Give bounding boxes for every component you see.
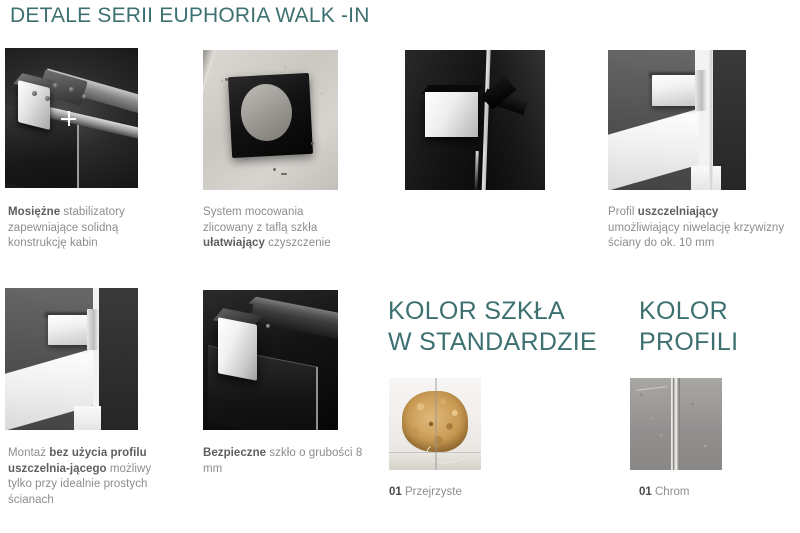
feature-caption-4-strong: uszczelniający (638, 206, 719, 218)
feature-caption-6: Bezpieczne szkło o grubości 8 mm (203, 446, 363, 477)
chrome-profile-swatch-name: Chrom (655, 486, 690, 498)
chrome-profile-swatch-label: 01 Chrom (639, 486, 690, 498)
safety-glass-cap-photo (203, 290, 338, 430)
feature-caption-5-lead: Montaż (8, 447, 49, 459)
feature-caption-1: Mosiężne stabilizatory zapewniające soli… (8, 205, 158, 252)
feature-caption-1-strong: Mosiężne (8, 206, 60, 218)
page-title: DETALE SERII EUPHORIA WALK -IN (10, 4, 370, 28)
feature-caption-2-strong: ułatwiający (203, 237, 265, 249)
transparent-glass-swatch-label: 01 Przejrzyste (389, 486, 462, 498)
brass-stabilizer-bracket-photo (5, 48, 138, 188)
feature-caption-4-lead: Profil (608, 206, 638, 218)
glass-color-heading-line1: KOLOR SZKŁA (388, 296, 613, 327)
flush-glass-mount-photo (203, 50, 338, 190)
sealing-profile-photo (608, 50, 746, 190)
chrome-profile-swatch[interactable] (630, 378, 722, 470)
transparent-glass-swatch-name: Przejrzyste (405, 486, 462, 498)
feature-caption-2-rest: czyszczenie (265, 237, 331, 249)
no-sealing-profile-photo (5, 288, 138, 430)
feature-caption-2-lead: System mocowania zlicowany z taflą szkła (203, 206, 317, 234)
feature-caption-5: Montaż bez użycia profilu uszczelnia-jąc… (8, 446, 156, 508)
profile-color-heading: KOLOR PROFILI (639, 296, 799, 358)
profile-color-heading-line2: PROFILI (639, 327, 799, 358)
feature-caption-4-rest: umożliwiający niwelację krzywizny ściany… (608, 222, 784, 250)
glass-color-heading-line2: W STANDARDZIE (388, 327, 613, 358)
glass-color-heading: KOLOR SZKŁA W STANDARDZIE (388, 296, 613, 358)
product-detail-page: DETALE SERII EUPHORIA WALK -IN (0, 0, 800, 533)
feature-caption-6-strong: Bezpieczne (203, 447, 266, 459)
transparent-glass-swatch-code: 01 (389, 486, 402, 498)
chrome-profile-swatch-code: 01 (639, 486, 652, 498)
transparent-glass-swatch[interactable] (389, 378, 481, 470)
corner-joint-photo (405, 50, 545, 190)
feature-caption-4: Profil uszczelniający umożliwiający niwe… (608, 205, 788, 252)
profile-color-heading-line1: KOLOR (639, 296, 799, 327)
feature-caption-2: System mocowania zlicowany z taflą szkła… (203, 205, 353, 252)
